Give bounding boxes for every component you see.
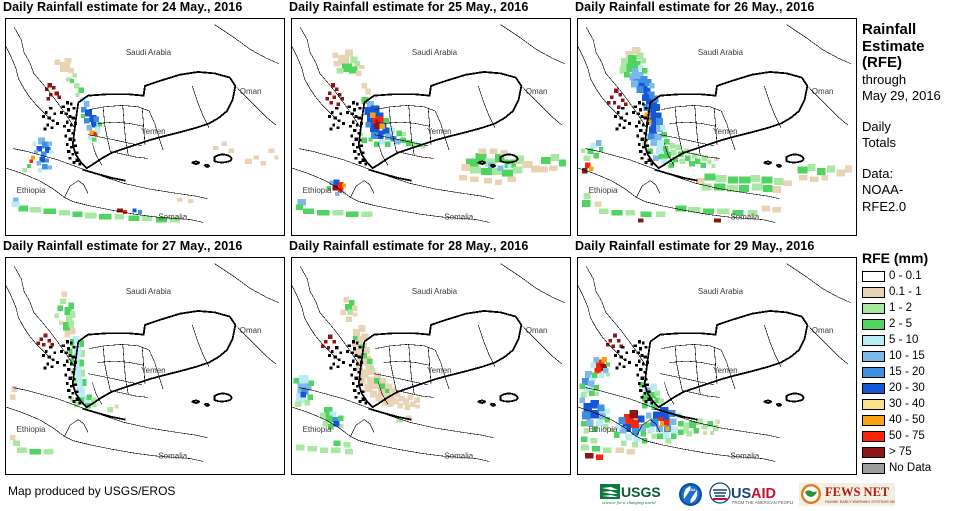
svg-text:Somalia: Somalia (730, 213, 759, 222)
legend-label: > 75 (889, 447, 912, 459)
sidebar-data-source-line1: NOAA- (862, 182, 967, 199)
sidebar-title-line2: Estimate (862, 39, 967, 56)
rfe-legend: RFE (mm) 0 - 0.10.1 - 11 - 22 - 55 - 101… (862, 250, 967, 477)
map-canvas[interactable]: Saudi ArabiaOmanYemenEthiopiaSomalia (577, 18, 857, 236)
legend-label: 40 - 50 (889, 415, 925, 427)
fewsnet-logo[interactable]: FEWS NET FAMINE EARLY WARNING SYSTEMS NE… (799, 481, 895, 507)
sidebar-title-line3: (RFE) (862, 55, 967, 72)
legend-rows: 0 - 0.10.1 - 11 - 22 - 55 - 1010 - 1515 … (862, 269, 967, 476)
svg-text:Yemen: Yemen (141, 127, 166, 136)
legend-entry: 5 - 10 (862, 333, 967, 348)
svg-text:Ethiopia: Ethiopia (589, 186, 618, 195)
map-canvas[interactable]: Saudi ArabiaOmanYemenEthiopiaSomalia (5, 18, 285, 236)
legend-swatch (862, 431, 885, 442)
svg-text:Ethiopia: Ethiopia (17, 425, 46, 434)
svg-text:Yemen: Yemen (713, 366, 738, 375)
svg-text:science for a changing world: science for a changing world (602, 500, 656, 505)
legend-entry: 40 - 50 (862, 413, 967, 428)
svg-text:Yemen: Yemen (427, 127, 452, 136)
svg-text:Oman: Oman (526, 326, 548, 335)
map-layers: Saudi ArabiaOmanYemenEthiopiaSomalia (292, 19, 570, 235)
svg-text:Saudi Arabia: Saudi Arabia (698, 48, 744, 57)
legend-swatch (862, 367, 885, 378)
legend-label: No Data (889, 463, 931, 475)
sidebar-totals-line1: Daily (862, 119, 967, 136)
map-panel: Daily Rainfall estimate for 28 May., 201… (286, 239, 572, 478)
legend-swatch (862, 383, 885, 394)
legend-swatch (862, 335, 885, 346)
map-panel: Daily Rainfall estimate for 25 May., 201… (286, 0, 572, 239)
svg-text:FEWS NET: FEWS NET (825, 485, 890, 499)
svg-text:Oman: Oman (812, 87, 834, 96)
map-panel: Daily Rainfall estimate for 29 May., 201… (572, 239, 858, 478)
legend-label: 10 - 15 (889, 351, 925, 363)
map-layers: Saudi ArabiaOmanYemenEthiopiaSomalia (578, 19, 856, 235)
svg-text:Somalia: Somalia (158, 213, 187, 222)
usaid-logo[interactable]: US AID FROM THE AMERICAN PEOPLE (709, 481, 793, 507)
legend-entry: No Data (862, 461, 967, 476)
sidebar-through-label: through (862, 72, 967, 89)
sidebar-totals-line2: Totals (862, 135, 967, 152)
svg-text:Oman: Oman (240, 87, 262, 96)
legend-swatch (862, 415, 885, 426)
legend-swatch (862, 463, 885, 474)
legend-swatch (862, 319, 885, 330)
map-canvas[interactable]: Saudi ArabiaOmanYemenEthiopiaSomalia (5, 257, 285, 475)
svg-text:Somalia: Somalia (444, 213, 473, 222)
legend-title: RFE (mm) (862, 250, 967, 266)
map-layers: Saudi ArabiaOmanYemenEthiopiaSomalia (6, 19, 284, 235)
svg-text:Yemen: Yemen (713, 127, 738, 136)
svg-text:NOAA: NOAA (686, 488, 697, 492)
map-panel: Daily Rainfall estimate for 24 May., 201… (0, 0, 286, 239)
map-layers: Saudi ArabiaOmanYemenEthiopiaSomalia (6, 258, 284, 474)
legend-swatch (862, 351, 885, 362)
svg-text:Ethiopia: Ethiopia (17, 186, 46, 195)
legend-label: 5 - 10 (889, 335, 918, 347)
legend-entry: 20 - 30 (862, 381, 967, 396)
map-panel: Daily Rainfall estimate for 27 May., 201… (0, 239, 286, 478)
legend-entry: 10 - 15 (862, 349, 967, 364)
svg-text:Saudi Arabia: Saudi Arabia (126, 287, 172, 296)
legend-label: 30 - 40 (889, 399, 925, 411)
legend-label: 2 - 5 (889, 319, 912, 331)
agency-logos: USGS science for a changing world NOAA U… (600, 480, 895, 508)
usgs-logo[interactable]: USGS science for a changing world (600, 481, 672, 507)
svg-text:USGS: USGS (621, 484, 661, 500)
panel-title: Daily Rainfall estimate for 26 May., 201… (572, 0, 858, 17)
map-layers: Saudi ArabiaOmanYemenEthiopiaSomalia (578, 258, 856, 474)
legend-entry: 50 - 75 (862, 429, 967, 444)
legend-entry: 15 - 20 (862, 365, 967, 380)
map-canvas[interactable]: Saudi ArabiaOmanYemenEthiopiaSomalia (577, 257, 857, 475)
svg-text:Saudi Arabia: Saudi Arabia (412, 287, 458, 296)
legend-swatch (862, 447, 885, 458)
legend-entry: 1 - 2 (862, 301, 967, 316)
legend-label: 0.1 - 1 (889, 287, 922, 299)
svg-text:Oman: Oman (240, 326, 262, 335)
panel-title: Daily Rainfall estimate for 28 May., 201… (286, 239, 572, 256)
legend-label: 0 - 0.1 (889, 271, 922, 283)
svg-text:Saudi Arabia: Saudi Arabia (698, 287, 744, 296)
legend-swatch (862, 287, 885, 298)
map-layers: Saudi ArabiaOmanYemenEthiopiaSomalia (292, 258, 570, 474)
svg-text:Ethiopia: Ethiopia (303, 425, 332, 434)
svg-text:Somalia: Somalia (730, 452, 759, 461)
sidebar-data-label: Data: (862, 166, 967, 183)
svg-text:Yemen: Yemen (427, 366, 452, 375)
legend-label: 20 - 30 (889, 383, 925, 395)
map-canvas[interactable]: Saudi ArabiaOmanYemenEthiopiaSomalia (291, 257, 571, 475)
legend-entry: 0.1 - 1 (862, 285, 967, 300)
svg-text:Ethiopia: Ethiopia (303, 186, 332, 195)
legend-entry: 0 - 0.1 (862, 269, 967, 284)
legend-swatch (862, 399, 885, 410)
legend-entry: > 75 (862, 445, 967, 460)
legend-entry: 30 - 40 (862, 397, 967, 412)
panel-title: Daily Rainfall estimate for 25 May., 201… (286, 0, 572, 17)
panel-title: Daily Rainfall estimate for 27 May., 201… (0, 239, 286, 256)
svg-text:Ethiopia: Ethiopia (589, 425, 618, 434)
legend-label: 1 - 2 (889, 303, 912, 315)
svg-text:Somalia: Somalia (158, 452, 187, 461)
legend-label: 50 - 75 (889, 431, 925, 443)
map-credit: Map produced by USGS/EROS (8, 484, 175, 498)
legend-swatch (862, 303, 885, 314)
svg-text:Yemen: Yemen (141, 366, 166, 375)
legend-swatch (862, 271, 885, 282)
map-panel: Daily Rainfall estimate for 26 May., 201… (572, 0, 858, 239)
svg-text:Saudi Arabia: Saudi Arabia (126, 48, 172, 57)
map-panel-grid: Daily Rainfall estimate for 24 May., 201… (0, 0, 858, 478)
sidebar-data-source-line2: RFE2.0 (862, 199, 967, 216)
panel-title: Daily Rainfall estimate for 24 May., 201… (0, 0, 286, 17)
panel-title: Daily Rainfall estimate for 29 May., 201… (572, 239, 858, 256)
svg-text:Oman: Oman (812, 326, 834, 335)
map-canvas[interactable]: Saudi ArabiaOmanYemenEthiopiaSomalia (291, 18, 571, 236)
svg-text:Saudi Arabia: Saudi Arabia (412, 48, 458, 57)
svg-text:Oman: Oman (526, 87, 548, 96)
legend-label: 15 - 20 (889, 367, 925, 379)
noaa-logo[interactable]: NOAA (678, 481, 703, 507)
svg-text:FROM THE AMERICAN PEOPLE: FROM THE AMERICAN PEOPLE (732, 500, 793, 505)
svg-text:Somalia: Somalia (444, 452, 473, 461)
svg-text:FAMINE EARLY WARNING SYSTEMS N: FAMINE EARLY WARNING SYSTEMS NETWORK (825, 500, 895, 504)
sidebar-title-line1: Rainfall (862, 22, 967, 39)
legend-entry: 2 - 5 (862, 317, 967, 332)
sidebar-through-date: May 29, 2016 (862, 88, 967, 105)
